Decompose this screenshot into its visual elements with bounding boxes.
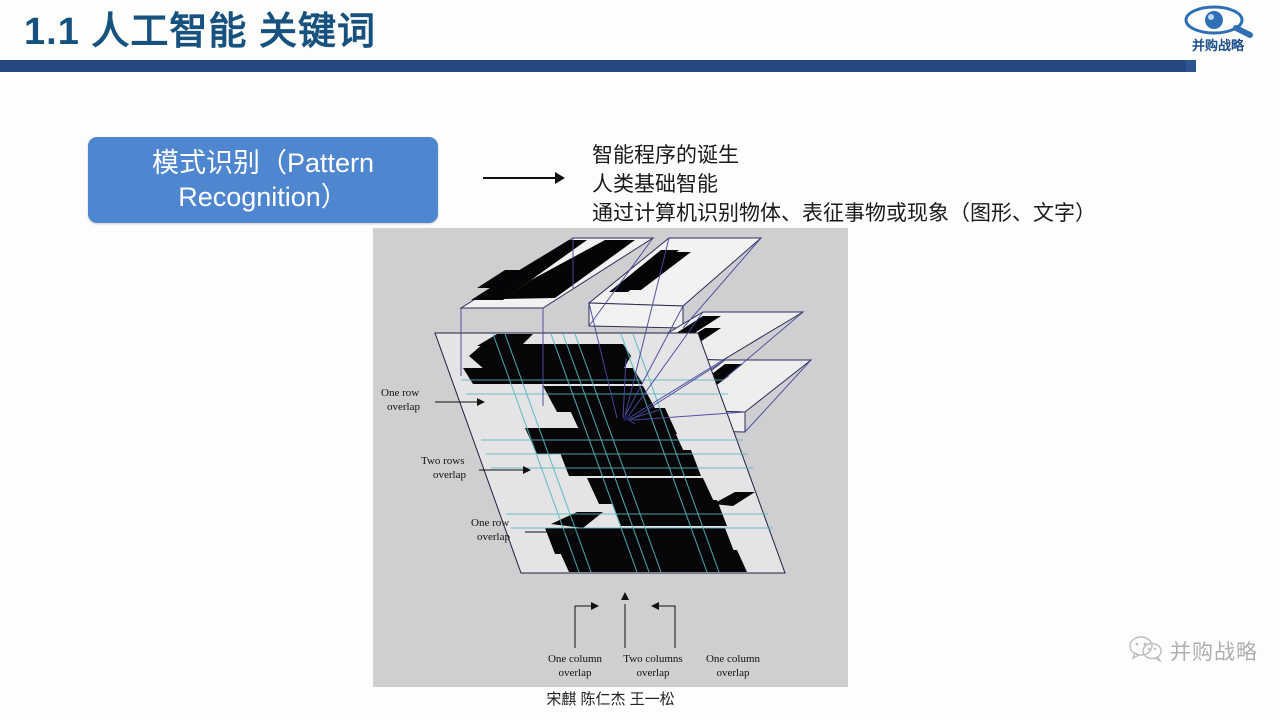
page-title: 1.1 人工智能 关键词 bbox=[24, 8, 376, 56]
col-label-3-line2: overlap bbox=[717, 667, 750, 679]
eye-magnifier-icon bbox=[1170, 4, 1266, 38]
keyword-box: 模式识别（Pattern Recognition） bbox=[88, 137, 438, 223]
row-label-1-line2: overlap bbox=[387, 401, 420, 413]
row-label-3-line2: overlap bbox=[477, 531, 510, 543]
col-label-2-line2: overlap bbox=[637, 667, 670, 679]
brand-logo: 并购战略 bbox=[1170, 4, 1266, 66]
right-arrow-icon bbox=[483, 168, 565, 188]
col-label-2-line1: Two columns bbox=[623, 653, 682, 665]
brand-name: 并购战略 bbox=[1170, 38, 1266, 54]
col-label-1-line1: One column bbox=[548, 653, 603, 665]
description-block: 智能程序的诞生 人类基础智能 通过计算机识别物体、表征事物或现象（图形、文字） bbox=[592, 141, 1192, 228]
description-line-3: 通过计算机识别物体、表征事物或现象（图形、文字） bbox=[592, 199, 1192, 228]
figure-caption: 宋麒 陈仁杰 王一松 bbox=[373, 690, 848, 710]
slide-canvas: 1.1 人工智能 关键词 并购战略 模式识别（Pattern Recogniti… bbox=[0, 0, 1280, 720]
row-label-2-line1: Two rows bbox=[421, 455, 465, 467]
description-line-1: 智能程序的诞生 bbox=[592, 141, 1192, 170]
wechat-watermark: 并购战略 bbox=[1129, 634, 1258, 667]
col-label-3-line1: One column bbox=[706, 653, 761, 665]
row-label-1-line1: One row bbox=[381, 387, 419, 399]
watermark-text: 并购战略 bbox=[1170, 636, 1258, 666]
keyword-box-label: 模式识别（Pattern Recognition） bbox=[88, 146, 438, 214]
row-label-2-line2: overlap bbox=[433, 469, 466, 481]
title-divider bbox=[0, 60, 1186, 72]
wechat-icon bbox=[1129, 634, 1163, 667]
col-label-1-line2: overlap bbox=[559, 667, 592, 679]
pattern-recognition-figure: One row overlap Two rows overlap One row… bbox=[373, 228, 848, 687]
row-label-3-line1: One row bbox=[471, 517, 509, 529]
description-line-2: 人类基础智能 bbox=[592, 170, 1192, 199]
